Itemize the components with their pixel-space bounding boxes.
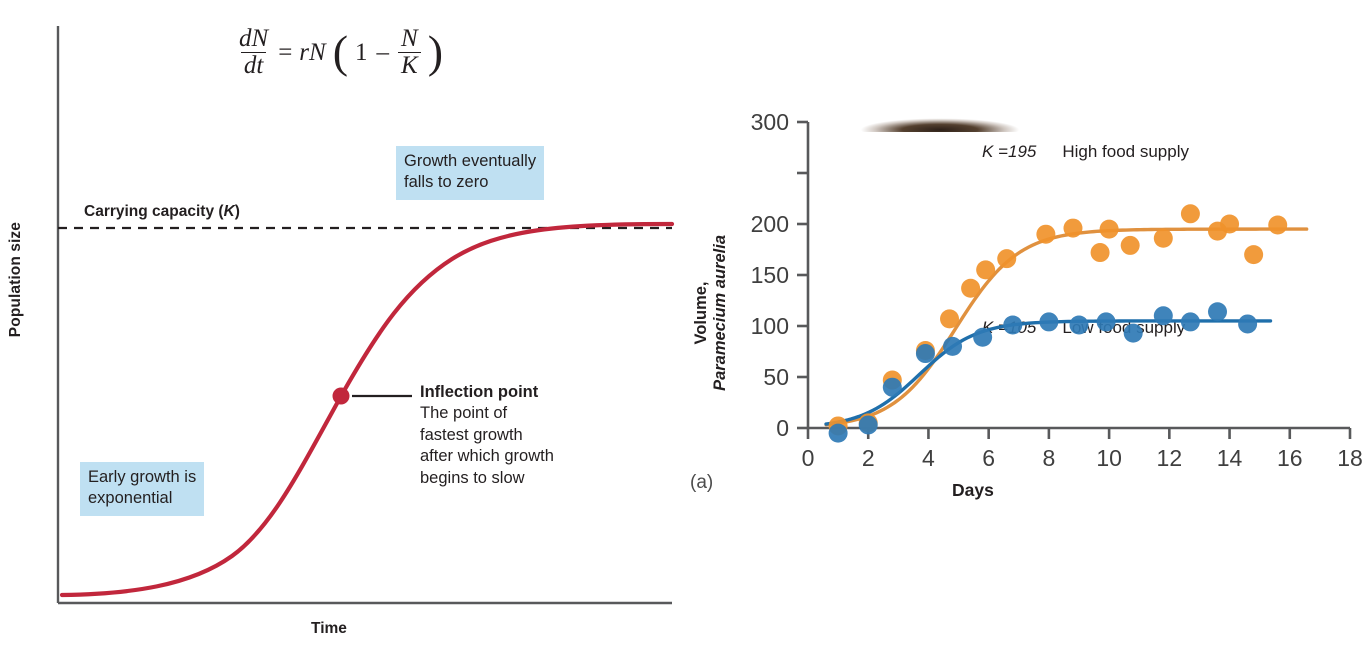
x-tick-label: 6 <box>982 445 995 471</box>
x-tick-label: 12 <box>1157 445 1183 471</box>
data-point <box>997 249 1016 268</box>
data-point <box>883 378 902 397</box>
data-point <box>1154 229 1173 248</box>
data-point <box>1220 215 1239 234</box>
x-tick-label: 16 <box>1277 445 1303 471</box>
y-tick-label: 0 <box>776 415 789 441</box>
data-point <box>961 279 980 298</box>
data-point <box>1063 219 1082 238</box>
data-point <box>1070 315 1089 334</box>
data-point <box>1036 225 1055 244</box>
data-point <box>1039 312 1058 331</box>
data-point <box>829 424 848 443</box>
y-tick-label: 150 <box>751 262 789 288</box>
data-point <box>1154 306 1173 325</box>
data-point <box>1181 312 1200 331</box>
x-tick-label: 4 <box>922 445 935 471</box>
logistic-growth-diagram: dN dt = rN ( 1 – N K ) Population size T… <box>0 0 690 666</box>
data-point <box>976 260 995 279</box>
data-point <box>1238 314 1257 333</box>
x-tick-label: 18 <box>1337 445 1363 471</box>
data-point <box>943 337 962 356</box>
data-point <box>1121 236 1140 255</box>
inflection-point-marker <box>333 388 350 405</box>
data-point <box>1181 204 1200 223</box>
data-point <box>973 328 992 347</box>
x-tick-label: 10 <box>1096 445 1122 471</box>
data-point <box>1100 220 1119 239</box>
left-chart-svg <box>0 0 690 666</box>
data-point <box>1208 302 1227 321</box>
y-tick-label: 200 <box>751 211 789 237</box>
data-point <box>1244 245 1263 264</box>
data-point <box>1097 312 1116 331</box>
x-tick-label: 2 <box>862 445 875 471</box>
paramecium-growth-chart: (a) Volume,Paramecium aurelia Days K =19… <box>660 60 1364 580</box>
y-tick-label: 50 <box>763 364 789 390</box>
right-chart-svg: 050100150200300024681012141618 <box>660 60 1364 540</box>
y-tick-label: 300 <box>751 109 789 135</box>
data-point <box>1091 243 1110 262</box>
data-point <box>1268 216 1287 235</box>
data-point <box>916 344 935 363</box>
x-tick-label: 14 <box>1217 445 1243 471</box>
data-point <box>1003 315 1022 334</box>
right-chart-plot-area: 050100150200300024681012141618 <box>751 109 1363 471</box>
data-point <box>1124 324 1143 343</box>
logistic-growth-curve <box>62 224 672 595</box>
x-tick-label: 8 <box>1042 445 1055 471</box>
y-tick-label: 100 <box>751 313 789 339</box>
x-tick-label: 0 <box>802 445 815 471</box>
data-point <box>859 415 878 434</box>
data-point <box>940 309 959 328</box>
